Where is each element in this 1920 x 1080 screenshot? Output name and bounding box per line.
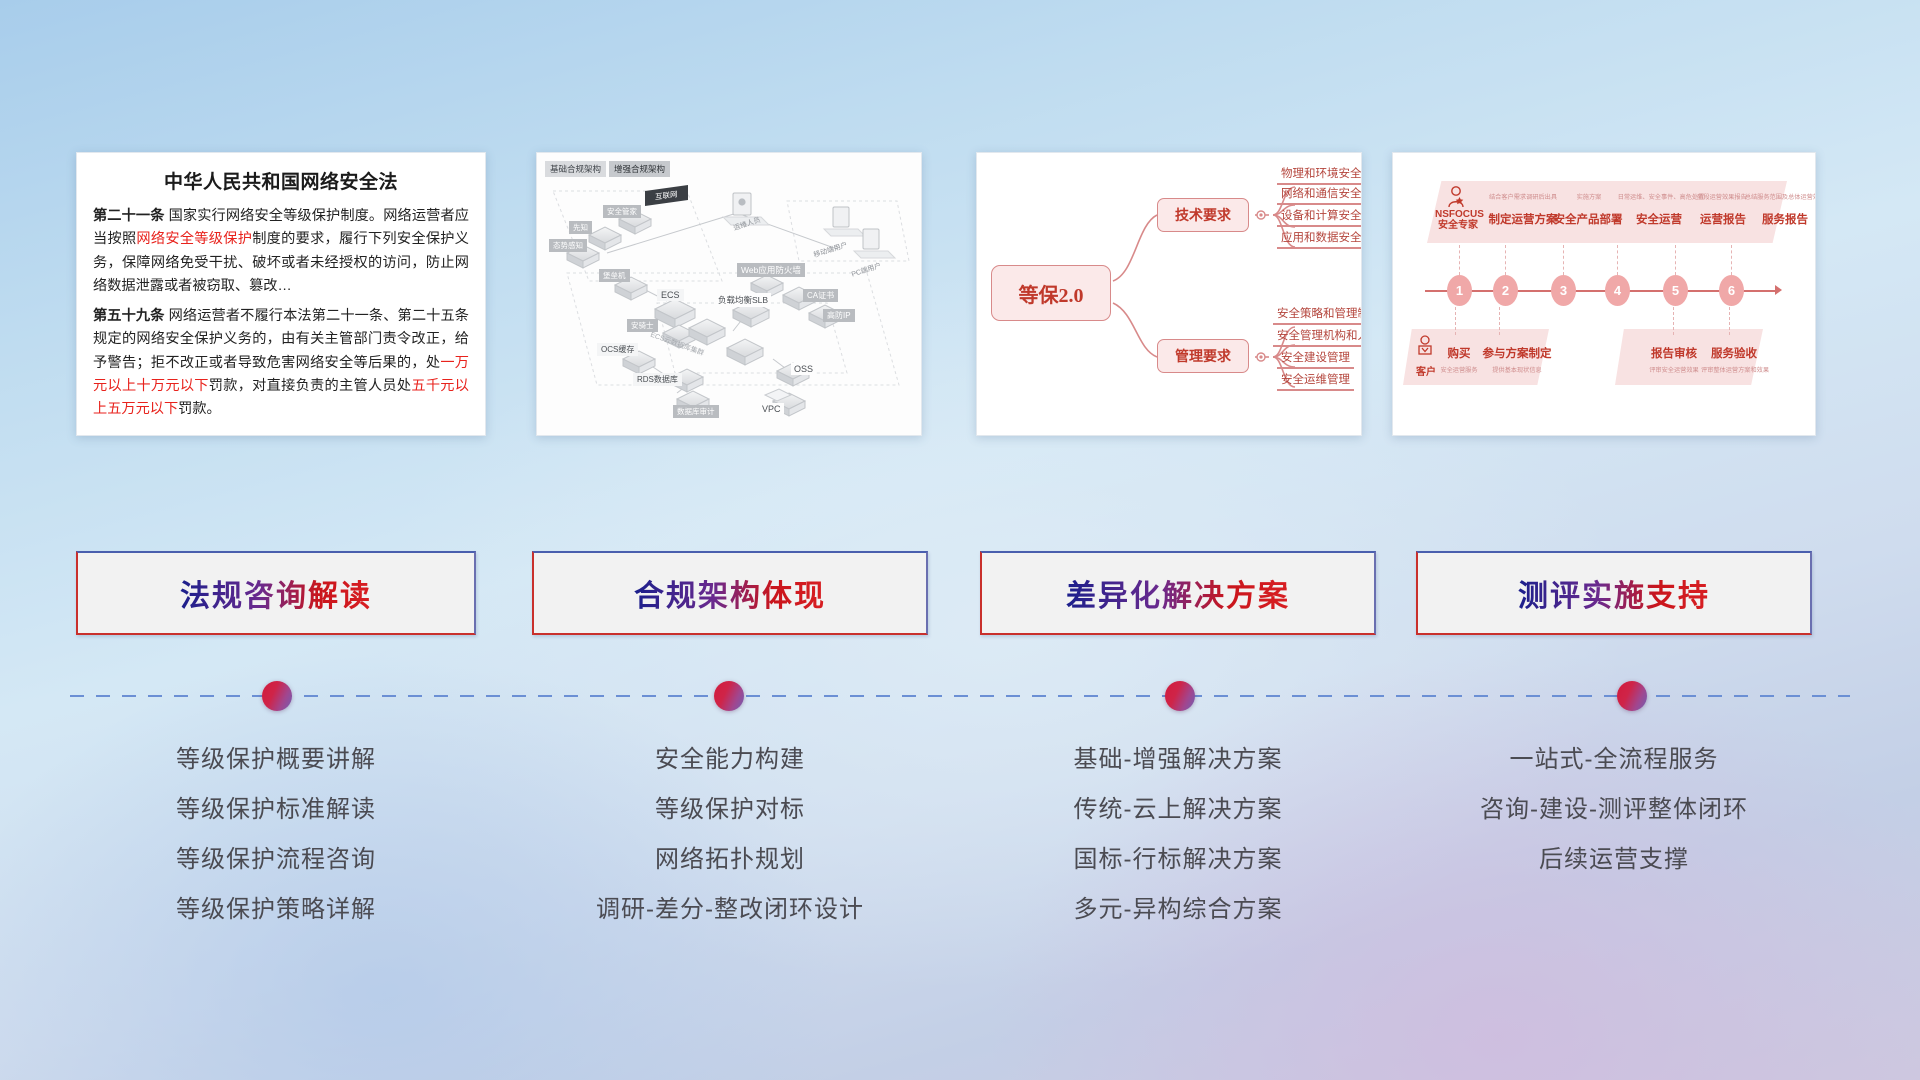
timeline-dot-4[interactable]	[1617, 681, 1647, 711]
list-column-2: 安全能力构建 等级保护对标 网络拓扑规划 调研-差分-整改闭环设计	[532, 735, 928, 935]
slide-root: { "cards": { "law": { "title": "中华人民共和国网…	[0, 0, 1920, 1080]
timeline-dashed-line	[70, 695, 1850, 697]
list-item: 国标-行标解决方案	[980, 835, 1376, 885]
list-column-4: 一站式-全流程服务 咨询-建设-测评整体闭环 后续运营支撑	[1416, 735, 1812, 885]
list-item: 多元-异构综合方案	[980, 885, 1376, 935]
list-item: 等级保护对标	[532, 785, 928, 835]
headline-label-4: 测评实施支持	[1518, 571, 1710, 615]
list-item: 咨询-建设-测评整体闭环	[1416, 785, 1812, 835]
list-item: 一站式-全流程服务	[1416, 735, 1812, 785]
headline-box-1[interactable]: 法规咨询解读	[76, 551, 476, 635]
list-item: 安全能力构建	[532, 735, 928, 785]
list-item: 等级保护标准解读	[76, 785, 476, 835]
list-item: 等级保护策略详解	[76, 885, 476, 935]
timeline-dot-3[interactable]	[1165, 681, 1195, 711]
list-item: 传统-云上解决方案	[980, 785, 1376, 835]
headline-label-2: 合规架构体现	[634, 571, 826, 615]
list-item: 后续运营支撑	[1416, 835, 1812, 885]
list-column-1: 等级保护概要讲解 等级保护标准解读 等级保护流程咨询 等级保护策略详解	[76, 735, 476, 935]
list-item: 基础-增强解决方案	[980, 735, 1376, 785]
headline-box-3[interactable]: 差异化解决方案	[980, 551, 1376, 635]
list-item: 等级保护概要讲解	[76, 735, 476, 785]
list-item: 网络拓扑规划	[532, 835, 928, 885]
headline-box-2[interactable]: 合规架构体现	[532, 551, 928, 635]
list-item: 等级保护流程咨询	[76, 835, 476, 885]
list-column-3: 基础-增强解决方案 传统-云上解决方案 国标-行标解决方案 多元-异构综合方案	[980, 735, 1376, 935]
headline-label-1: 法规咨询解读	[180, 571, 372, 615]
timeline-dot-2[interactable]	[714, 681, 744, 711]
headline-box-4[interactable]: 测评实施支持	[1416, 551, 1812, 635]
headline-label-3: 差异化解决方案	[1066, 571, 1290, 615]
timeline-track	[70, 695, 1850, 697]
list-item: 调研-差分-整改闭环设计	[532, 885, 928, 935]
timeline-dot-1[interactable]	[262, 681, 292, 711]
